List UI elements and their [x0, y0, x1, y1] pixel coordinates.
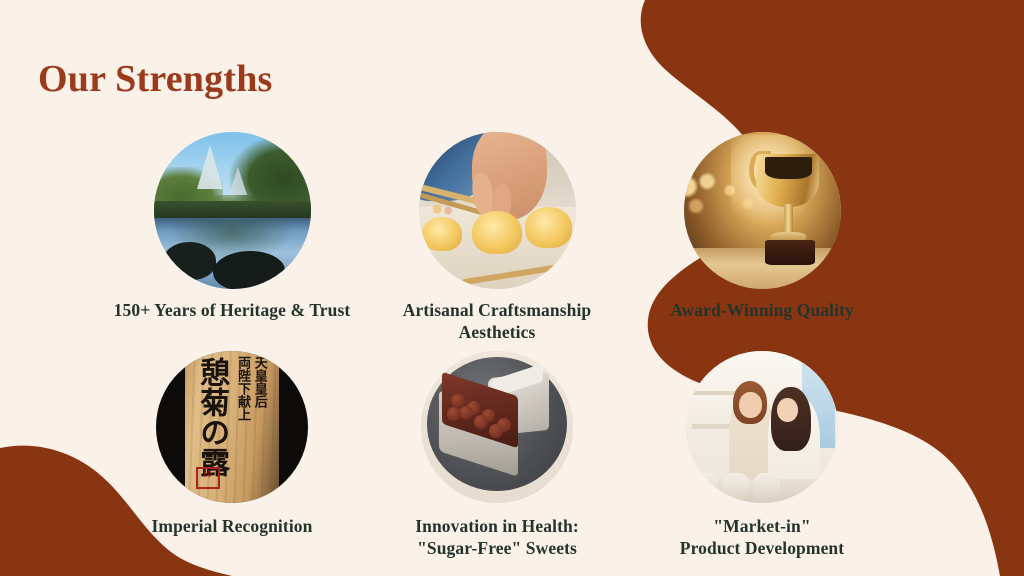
strength-card-award[interactable]: Award-Winning Quality	[627, 132, 897, 321]
caption-line: Aesthetics	[362, 321, 632, 343]
slide-root: Our Strengths 150+ Years of Heritage & T…	[0, 0, 1024, 576]
strength-card-heritage[interactable]: 150+ Years of Heritage & Trust	[97, 132, 367, 321]
strength-card-market-in[interactable]: "Market-in" Product Development	[627, 351, 897, 559]
caption-line: Artisanal Craftsmanship	[362, 299, 632, 321]
plaque-main-calligraphy: 憩菊の露	[196, 357, 227, 477]
imperial-wooden-plaque-photo: 憩菊の露 両陛下献上 天皇皇后 印	[156, 351, 308, 503]
red-seal-stamp: 印	[196, 467, 220, 490]
caption-line: "Sugar-Free" Sweets	[362, 537, 632, 559]
plaque-small-column-2: 両陛下献上	[235, 356, 249, 421]
caption-line: Award-Winning Quality	[627, 299, 897, 321]
gold-trophy-photo	[684, 132, 841, 289]
strength-card-imperial[interactable]: 憩菊の露 両陛下献上 天皇皇后 印 Imperial Recognition	[97, 351, 367, 537]
strength-card-innovation[interactable]: Innovation in Health: "Sugar-Free" Sweet…	[362, 351, 632, 559]
strength-caption: "Market-in" Product Development	[627, 515, 897, 559]
wagashi-craftsman-hands-photo	[419, 132, 576, 289]
plaque-small-column-1: 天皇皇后	[252, 356, 266, 408]
japanese-garden-pond-photo	[154, 132, 311, 289]
caption-line: Innovation in Health:	[362, 515, 632, 537]
strength-caption: Innovation in Health: "Sugar-Free" Sweet…	[362, 515, 632, 559]
page-title: Our Strengths	[38, 57, 273, 101]
sugar-free-yokan-sweets-photo	[421, 351, 573, 503]
caption-line: Product Development	[627, 537, 897, 559]
strength-caption: Award-Winning Quality	[627, 299, 897, 321]
strength-card-craftsmanship[interactable]: Artisanal Craftsmanship Aesthetics	[362, 132, 632, 343]
strength-caption: Imperial Recognition	[97, 515, 367, 537]
caption-line: "Market-in"	[627, 515, 897, 537]
caption-line: Imperial Recognition	[97, 515, 367, 537]
customers-in-shop-photo	[686, 351, 838, 503]
strength-caption: 150+ Years of Heritage & Trust	[97, 299, 367, 321]
strength-caption: Artisanal Craftsmanship Aesthetics	[362, 299, 632, 343]
caption-line: 150+ Years of Heritage & Trust	[97, 299, 367, 321]
